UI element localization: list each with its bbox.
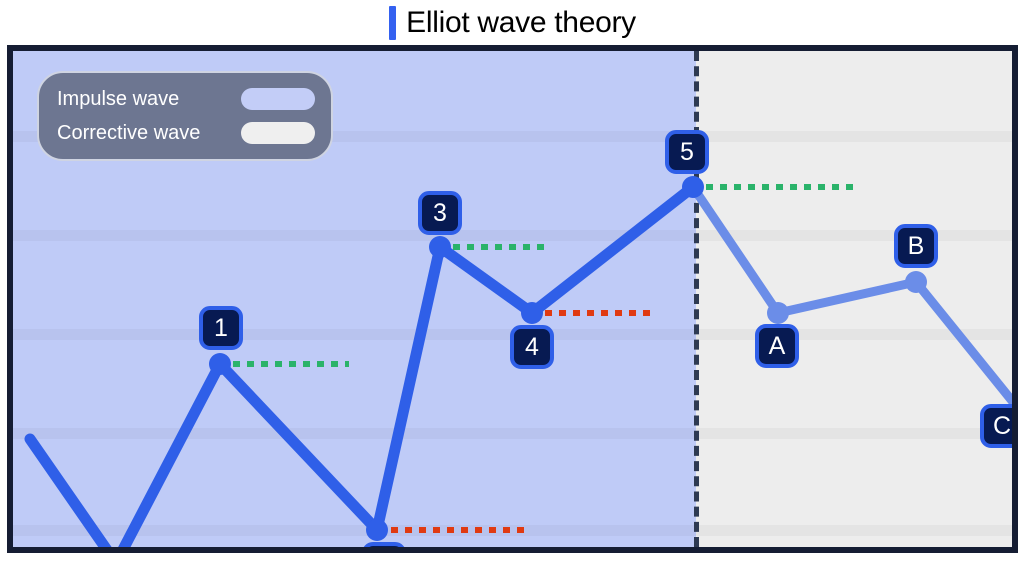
point-marker-a [767, 302, 789, 324]
point-markers [209, 176, 927, 541]
impulse-wave-series [30, 187, 693, 547]
legend-label-impulse: Impulse wave [57, 87, 179, 111]
corrective-wave-series [693, 187, 1012, 402]
point-label-3[interactable]: 3 [418, 191, 462, 235]
chart-plot-area: 12345ABC Impulse wave Corrective wave [13, 51, 1012, 547]
point-label-4[interactable]: 4 [510, 325, 554, 369]
title-accent-bar [389, 6, 396, 40]
corrective-wave-line [693, 187, 1012, 402]
point-marker-4 [521, 302, 543, 324]
title-group: Elliot wave theory [389, 6, 636, 40]
point-label-1[interactable]: 1 [199, 306, 243, 350]
point-label-c[interactable]: C [980, 404, 1018, 448]
point-label-5[interactable]: 5 [665, 130, 709, 174]
point-marker-5 [682, 176, 704, 198]
impulse-wave-line [30, 187, 693, 547]
point-label-a[interactable]: A [755, 324, 799, 368]
point-marker-2 [366, 519, 388, 541]
legend-label-corrective: Corrective wave [57, 121, 200, 145]
legend-swatch-impulse [241, 88, 315, 110]
legend-item-corrective[interactable]: Corrective wave [57, 118, 315, 148]
page-title: Elliot wave theory [406, 6, 636, 40]
point-marker-b [905, 271, 927, 293]
point-label-b[interactable]: B [894, 224, 938, 268]
point-marker-1 [209, 353, 231, 375]
chart-legend: Impulse wave Corrective wave [37, 71, 333, 161]
point-marker-3 [429, 236, 451, 258]
legend-item-impulse[interactable]: Impulse wave [57, 84, 315, 114]
point-label-2[interactable]: 2 [362, 542, 406, 553]
chart-frame: 12345ABC Impulse wave Corrective wave [7, 45, 1018, 553]
page-header: Elliot wave theory [0, 0, 1025, 45]
legend-swatch-corrective [241, 122, 315, 144]
